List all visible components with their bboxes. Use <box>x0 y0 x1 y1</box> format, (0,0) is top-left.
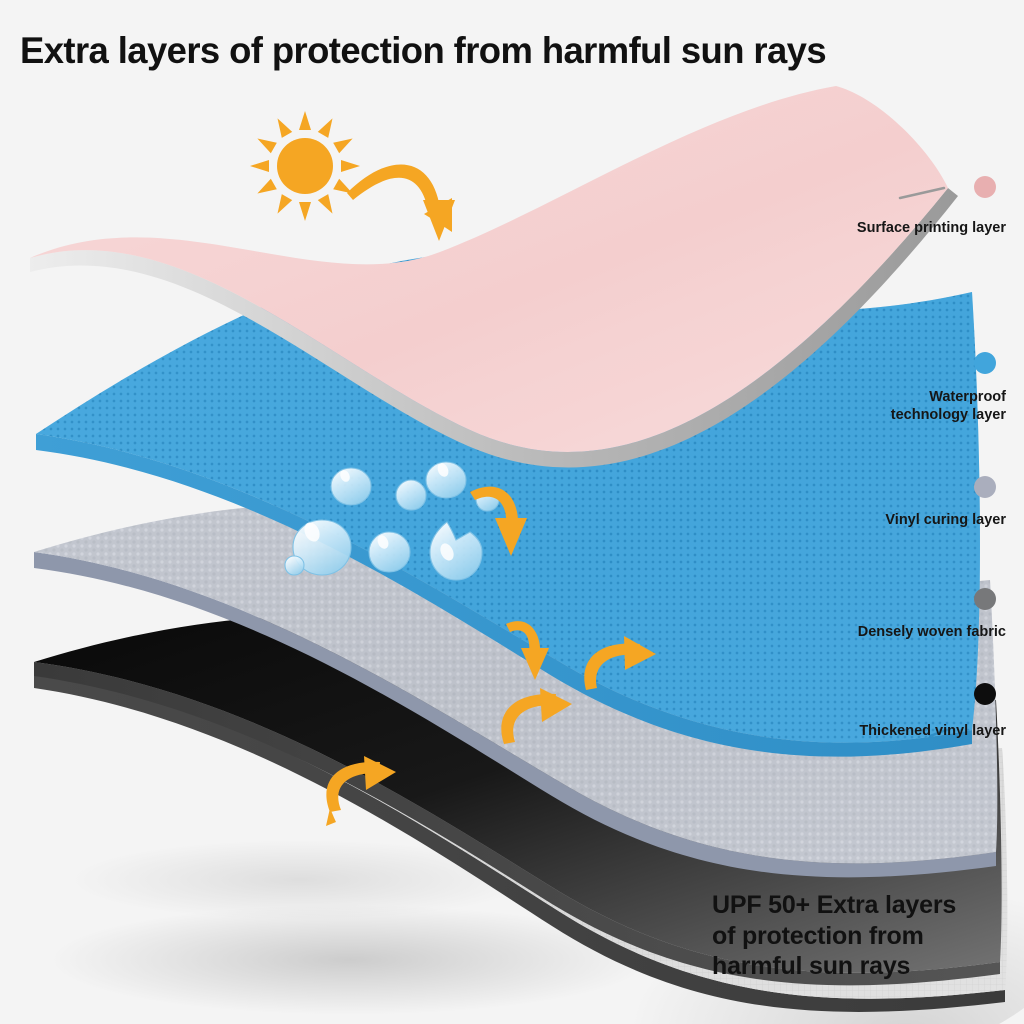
bottom-upf-note: UPF 50+ Extra layers of protection from … <box>712 890 1012 982</box>
callout-label-vinylcuring: Vinyl curing layer <box>766 512 1006 530</box>
callout-dot-waterproof <box>974 352 996 374</box>
callout-label-surface: Surface printing layer <box>766 220 1006 238</box>
callout-dot-densely <box>974 588 996 610</box>
infographic-canvas: Extra layers of protection from harmful … <box>0 0 1024 1024</box>
callout-label-densely: Densely woven fabric <box>756 624 1006 642</box>
callout-label-waterproof: Waterproof technology layer <box>766 389 1006 424</box>
callout-dot-thickened <box>974 683 996 705</box>
callout-dot-vinylcuring <box>974 476 996 498</box>
callout-label-thickened: Thickened vinyl layer <box>756 723 1006 741</box>
page-title: Extra layers of protection from harmful … <box>20 32 826 69</box>
callout-dot-surface <box>974 176 996 198</box>
